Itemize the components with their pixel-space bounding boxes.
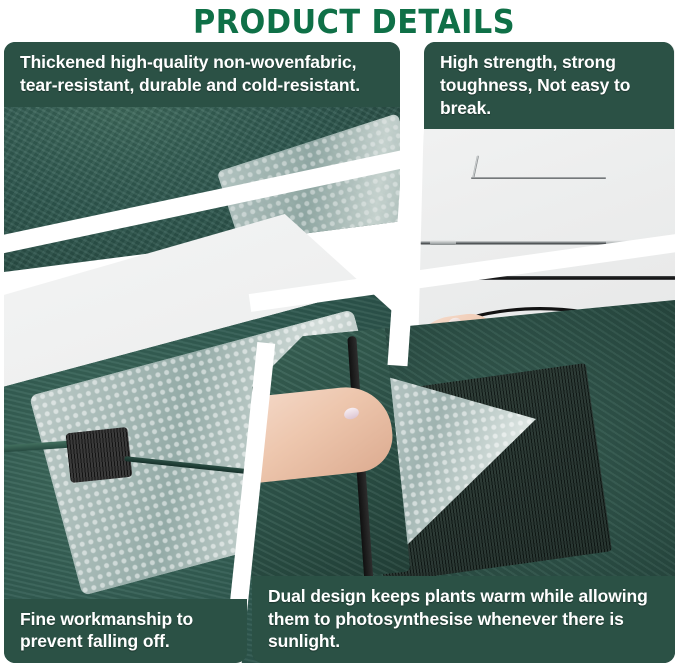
velcro-strap (66, 426, 133, 482)
image-collage: Thickened high-quality non-wovenfabric, … (0, 42, 679, 663)
caption-bar-top-left: Thickened high-quality non-wovenfabric, … (4, 42, 396, 107)
caption-bar-top-right: High strength, strong toughness, Not eas… (424, 42, 674, 129)
stake-horizontal-segment (471, 177, 606, 179)
page-title: PRODUCT DETAILS (0, 0, 679, 42)
page-title-text: PRODUCT DETAILS (193, 2, 515, 41)
rod-silver-ferrule-left (430, 240, 456, 245)
divider-left-edge (0, 42, 4, 663)
product-details-infographic: PRODUCT DETAILS Thickened high-quality n… (0, 0, 679, 663)
caption-bar-bottom-right: Dual design keeps plants warm while allo… (252, 576, 675, 663)
divider-right-edge (675, 42, 679, 663)
caption-bar-bottom-left: Fine workmanship to prevent falling off. (4, 599, 247, 663)
